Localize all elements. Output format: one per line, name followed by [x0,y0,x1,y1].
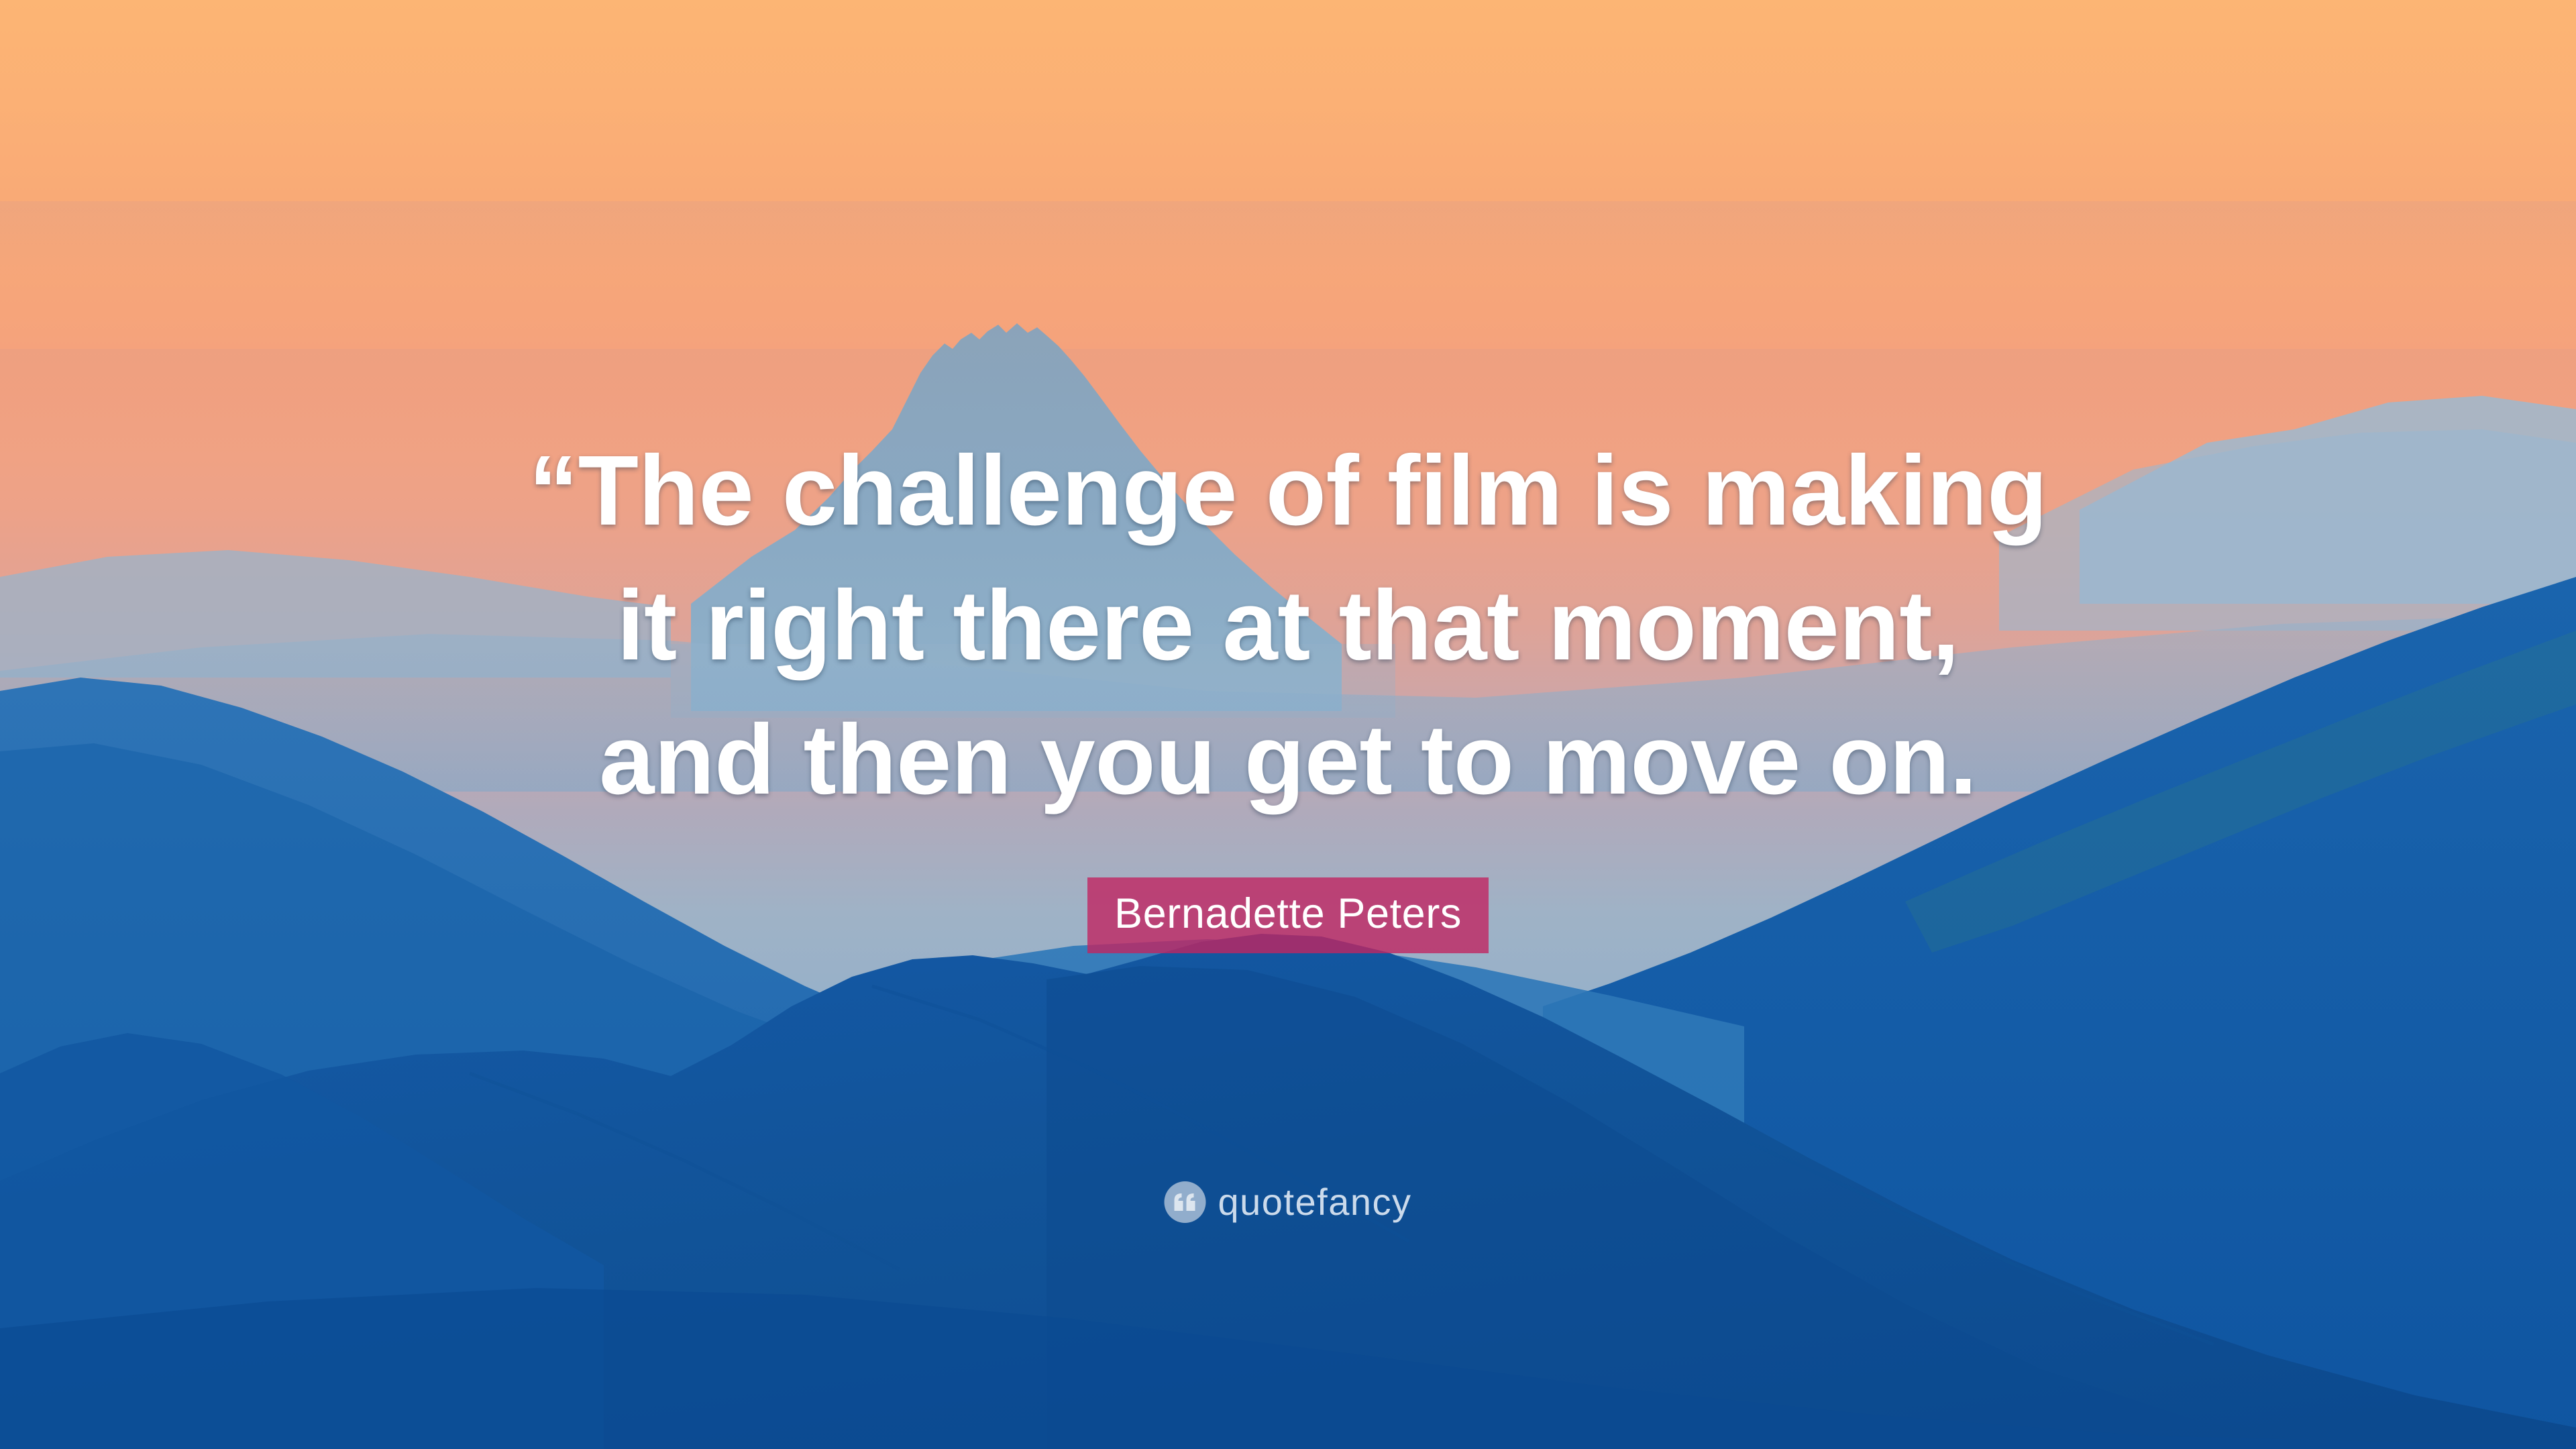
quote-poster: “The challenge of film is making it righ… [0,0,2576,1449]
quotefancy-wordmark: quotefancy [1218,1183,1412,1221]
haze-band-upper [0,201,2576,282]
quotefancy-logo[interactable]: quotefancy [1165,1181,1412,1223]
mountain-landscape-background [0,0,2576,1449]
double-quote-icon [1165,1181,1206,1223]
haze-band-lower [0,349,2576,449]
